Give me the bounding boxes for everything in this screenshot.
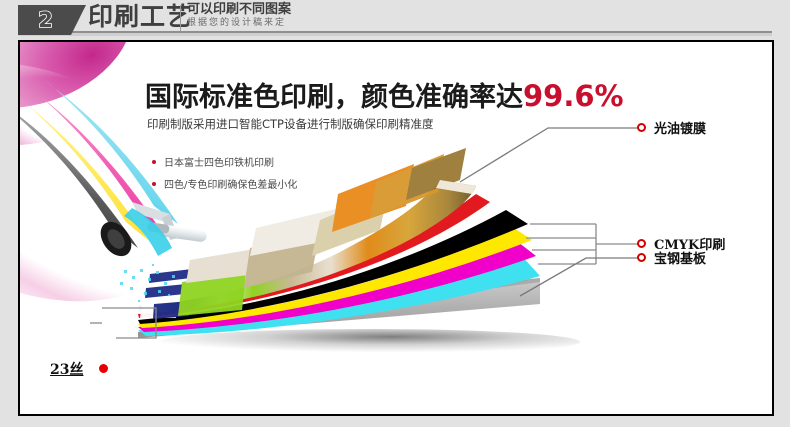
base-plate-shadow: [160, 329, 580, 355]
page-title: 印刷工艺: [88, 2, 192, 32]
page-root: 2 印刷工艺 可以印刷不同图案 根据您的设计稿来定 国际标准色印刷，颜色准确率达…: [0, 0, 790, 427]
callout-label-top: 光油镀膜: [654, 118, 706, 137]
callout-marker-icon-bottom: [637, 253, 646, 262]
callout-leader-top: [460, 128, 638, 182]
callout-label-left: 23丝: [50, 359, 83, 379]
header-subtitle-primary: 可以印刷不同图案: [187, 2, 291, 17]
printing-layers-illustration: [20, 42, 772, 414]
header-subtitle-secondary: 根据您的设计稿来定: [187, 17, 291, 30]
callout-label-bottom: 宝钢基板: [654, 248, 706, 267]
header-subtitle-group: 可以印刷不同图案 根据您的设计稿来定: [187, 2, 291, 30]
section-number-label: 2: [18, 5, 73, 35]
callout-marker-icon-left: [99, 364, 108, 373]
section-header: 2 印刷工艺 可以印刷不同图案 根据您的设计稿来定: [0, 0, 790, 38]
content-panel: 国际标准色印刷，颜色准确率达99.6% 印刷制版采用进口智能CTP设备进行制版确…: [18, 40, 774, 416]
cmyk-ink-ribbon: [20, 78, 178, 248]
title-divider: [180, 5, 181, 31]
callout-marker-icon-top: [637, 123, 646, 132]
callout-marker-icon-middle: [637, 239, 646, 248]
